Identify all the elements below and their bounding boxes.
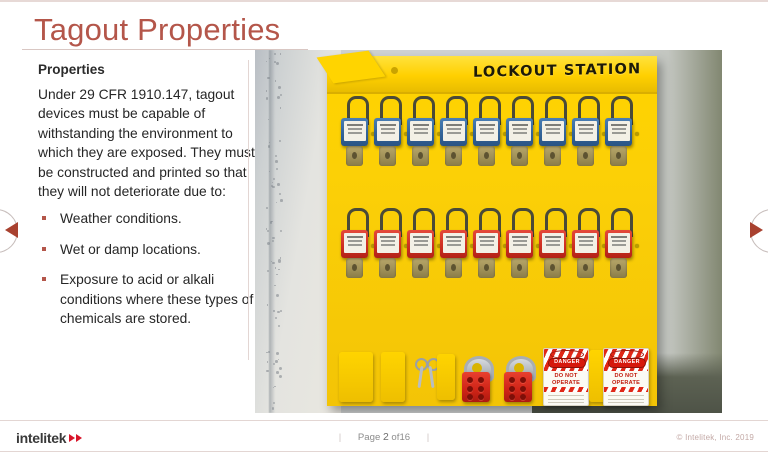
padlock-label (476, 233, 498, 253)
next-slide-button[interactable] (734, 209, 768, 251)
wall-speck (279, 375, 282, 378)
chevron-right-icon (750, 222, 763, 238)
tag-instruction: DO NOT OPERATE (544, 373, 588, 386)
list-item-label: Exposure to acid or alkali conditions wh… (60, 272, 253, 326)
wall-speck (278, 86, 281, 89)
padlock-keyhole-icon (346, 146, 363, 166)
padlock-body (440, 230, 467, 258)
tag-lower-stripes (544, 387, 588, 392)
tag-lower-stripes (604, 387, 648, 392)
board-header-screw (391, 67, 398, 74)
padlock-row-blue (337, 96, 647, 178)
padlock-keyhole-icon (544, 146, 561, 166)
tag-write-lines (548, 395, 584, 406)
slide-canvas: Tagout Properties Properties Under 29 CF… (0, 0, 768, 454)
padlock-body (572, 230, 599, 258)
wall-speck (276, 371, 279, 374)
wall-speck (266, 90, 268, 92)
padlock-label (542, 121, 564, 141)
padlock-keyhole-icon (577, 146, 594, 166)
padlock (539, 208, 566, 288)
padlock-body (506, 230, 533, 258)
padlock-body (341, 118, 368, 146)
board-header-label: LOCKOUT STATION (473, 61, 641, 81)
padlock-label (377, 233, 399, 253)
wall-speck (280, 199, 283, 202)
wall-speck (279, 140, 281, 142)
padlock (374, 208, 401, 288)
body-paragraph: Under 29 CFR 1910.147, tagout devices mu… (38, 85, 256, 201)
wall-speck (279, 367, 282, 370)
padlock (440, 96, 467, 176)
list-item: Weather conditions. (38, 209, 256, 228)
wall-speck (275, 160, 278, 163)
padlock-body (572, 118, 599, 146)
padlock-keyhole-icon (379, 146, 396, 166)
page-number: 2 (383, 432, 389, 443)
lockout-hasp (461, 356, 491, 402)
list-item-label: Wet or damp locations. (60, 242, 201, 257)
padlock (341, 208, 368, 288)
padlock-label (443, 233, 465, 253)
board-peg (635, 132, 639, 136)
wall-speck (266, 97, 269, 100)
padlock-keyhole-icon (412, 146, 429, 166)
bracket-left-inner (381, 352, 405, 402)
danger-tag: DANGER DO NOT OPERATE (603, 348, 649, 406)
padlock-label (377, 121, 399, 141)
wall-speck (277, 96, 280, 99)
padlock (440, 208, 467, 288)
padlock (407, 96, 434, 176)
padlock-keyhole-icon (445, 146, 462, 166)
bullet-square-icon (42, 277, 46, 281)
bullet-square-icon (42, 247, 46, 251)
bracket-middle (437, 354, 455, 400)
wall-speck (277, 183, 280, 186)
padlock (473, 96, 500, 176)
list-item: Wet or damp locations. (38, 240, 256, 259)
wall-speck (276, 294, 279, 297)
padlock (407, 208, 434, 288)
padlock-label (575, 233, 597, 253)
column-divider (248, 60, 249, 360)
padlock-keyhole-icon (511, 146, 528, 166)
wall-speck (280, 230, 282, 232)
padlock-body (506, 118, 533, 146)
padlock (506, 96, 533, 176)
wall-speck (277, 311, 280, 314)
padlock-label (575, 121, 597, 141)
wall-speck (280, 94, 282, 96)
padlock (605, 96, 632, 176)
lockout-station-photo: LOCKOUT STATION (255, 50, 722, 413)
padlock-label (443, 121, 465, 141)
wall-speck (276, 274, 277, 275)
hasp-body (504, 372, 532, 402)
padlock-keyhole-icon (379, 258, 396, 278)
footer-divider (0, 420, 768, 421)
page-word: Page (358, 432, 380, 443)
padlock-body (341, 230, 368, 258)
padlock-label (509, 233, 531, 253)
padlock-keyhole-icon (610, 146, 627, 166)
padlock-label (344, 233, 366, 253)
wall-speck (275, 360, 277, 362)
page-total: 16 (399, 432, 410, 443)
board-header-bevel (317, 51, 386, 84)
padlock-body (605, 230, 632, 258)
bracket-left (339, 352, 373, 402)
board-header-strip: LOCKOUT STATION (327, 56, 657, 94)
padlock-label (608, 121, 630, 141)
wall-speck (275, 80, 276, 81)
bullet-square-icon (42, 216, 46, 220)
page-separator-left: | (325, 432, 356, 443)
padlock-label (344, 121, 366, 141)
padlock-body (473, 118, 500, 146)
padlock-body (539, 230, 566, 258)
padlock-keyhole-icon (511, 258, 528, 278)
wall-speck (278, 259, 281, 262)
padlock (374, 96, 401, 176)
bullet-list: Weather conditions. Wet or damp location… (38, 209, 256, 328)
wall-speck (276, 168, 278, 170)
wall-speck (278, 325, 281, 328)
content-text-column: Properties Under 29 CFR 1910.147, tagout… (38, 61, 256, 339)
wall-speck (266, 228, 267, 229)
padlock (605, 208, 632, 288)
padlock-keyhole-icon (445, 258, 462, 278)
wall-speck (280, 257, 282, 259)
wall-speck (276, 62, 279, 65)
wall-speck (280, 107, 281, 108)
padlock-keyhole-icon (610, 258, 627, 278)
padlock-body (374, 118, 401, 146)
page-separator-right: | (413, 432, 444, 443)
padlock-keyhole-icon (346, 258, 363, 278)
list-item: Exposure to acid or alkali conditions wh… (38, 270, 256, 328)
wall-speck (280, 53, 281, 54)
padlock-body (374, 230, 401, 258)
padlock-label (410, 233, 432, 253)
padlock-label (509, 121, 531, 141)
padlock-label (476, 121, 498, 141)
hasp-body (462, 372, 490, 402)
padlock-body (539, 118, 566, 146)
padlock-keyhole-icon (412, 258, 429, 278)
padlock (473, 208, 500, 288)
copyright-text: © Intelitek, Inc. 2019 (677, 433, 754, 442)
padlock-keyhole-icon (544, 258, 561, 278)
padlock-label (608, 233, 630, 253)
padlock (572, 96, 599, 176)
board-accessory-area: DANGER DO NOT OPERATE DANGER DO NOT OPER… (337, 356, 647, 406)
yellow-lockout-board: LOCKOUT STATION (327, 56, 657, 406)
wall-speck (276, 202, 278, 204)
padlock-keyhole-icon (577, 258, 594, 278)
page-title: Tagout Properties (34, 10, 280, 50)
wall-speck (278, 359, 279, 360)
padlock (539, 96, 566, 176)
prev-slide-button[interactable] (0, 209, 34, 251)
padlock (506, 208, 533, 288)
padlock-body (407, 230, 434, 258)
padlock-body (473, 230, 500, 258)
padlock-body (407, 118, 434, 146)
lockout-hasp (503, 356, 533, 402)
wall-speck (278, 269, 280, 271)
padlock-keyhole-icon (478, 146, 495, 166)
padlock-label (410, 121, 432, 141)
padlock (341, 96, 368, 176)
wall-speck (266, 61, 267, 62)
padlock-label (542, 233, 564, 253)
wall-speck (280, 310, 282, 312)
board-lock-area (337, 96, 647, 366)
padlock-body (605, 118, 632, 146)
chevron-left-icon (5, 222, 18, 238)
tag-danger-word: DANGER (548, 358, 586, 368)
danger-tag: DANGER DO NOT OPERATE (543, 348, 589, 406)
wall-speck (279, 193, 281, 195)
section-subheading: Properties (38, 61, 256, 78)
wall-speck (275, 155, 277, 157)
padlock-body (440, 118, 467, 146)
padlock-row-red (337, 208, 647, 290)
wall-speck (276, 352, 279, 355)
footer-bottom-rule (0, 451, 768, 452)
board-peg (635, 244, 639, 248)
padlock-keyhole-icon (478, 258, 495, 278)
wall-speck (266, 207, 268, 209)
wall-speck (267, 304, 268, 305)
page-indicator: | Page 2 of16 | (0, 432, 768, 443)
wall-edge-shadow (269, 50, 275, 413)
tag-instruction: DO NOT OPERATE (604, 373, 648, 386)
tag-write-lines (608, 395, 644, 406)
list-item-label: Weather conditions. (60, 211, 182, 226)
padlock (572, 208, 599, 288)
tag-danger-word: DANGER (608, 358, 646, 368)
